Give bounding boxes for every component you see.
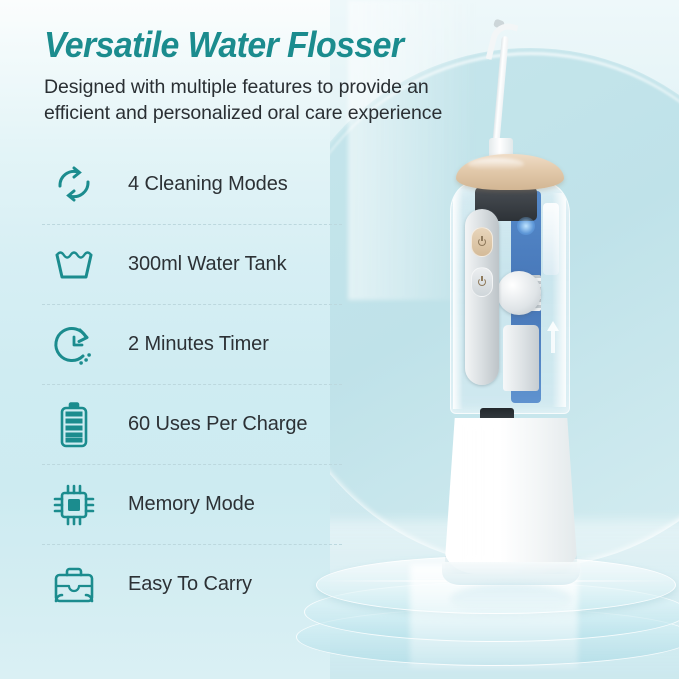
tank-left-highlight: [453, 189, 463, 409]
cpu-chip-icon: [42, 477, 106, 533]
page-title: Versatile Water Flosser: [44, 24, 403, 66]
battery-icon: [42, 397, 106, 453]
feature-row: 2 Minutes Timer: [42, 304, 342, 384]
body-highlight: [458, 426, 492, 560]
feature-row: Easy To Carry: [42, 544, 342, 624]
feature-row: 300ml Water Tank: [42, 224, 342, 304]
feature-list: 4 Cleaning Modes 300ml Water Tank: [42, 144, 342, 624]
transparent-water-tank: [450, 182, 570, 414]
feature-label: 60 Uses Per Charge: [128, 413, 307, 436]
power-button: [471, 227, 493, 257]
infographic-canvas: Versatile Water Flosser Designed with mu…: [0, 0, 679, 679]
feature-label: Memory Mode: [128, 493, 255, 516]
water-pump-cylinder: [503, 325, 539, 391]
subtitle-line-1: Designed with multiple features to provi…: [44, 74, 464, 100]
water-tank-icon: [42, 237, 106, 293]
mode-icon: [478, 278, 486, 286]
cap-highlight: [468, 158, 524, 170]
page-subtitle: Designed with multiple features to provi…: [44, 74, 464, 126]
feature-row: 60 Uses Per Charge: [42, 384, 342, 464]
pump-motor: [497, 271, 541, 315]
feature-row: Memory Mode: [42, 464, 342, 544]
feature-row: 4 Cleaning Modes: [42, 144, 342, 224]
feature-label: Easy To Carry: [128, 573, 252, 596]
feature-label: 2 Minutes Timer: [128, 333, 269, 356]
mode-button: [471, 267, 493, 297]
body-reflection: [450, 584, 572, 614]
body-foot-ring: [442, 562, 580, 586]
clock-timer-icon: [42, 317, 106, 373]
tank-right-highlight: [552, 193, 566, 407]
feature-label: 4 Cleaning Modes: [128, 173, 288, 196]
control-handle: [465, 209, 499, 385]
interior-glow-accent: [517, 217, 535, 235]
refresh-cycle-icon: [42, 156, 106, 212]
briefcase-icon: [42, 557, 106, 613]
subtitle-line-2: efficient and personalized oral care exp…: [44, 100, 464, 126]
power-icon: [478, 238, 486, 246]
feature-label: 300ml Water Tank: [128, 253, 286, 276]
